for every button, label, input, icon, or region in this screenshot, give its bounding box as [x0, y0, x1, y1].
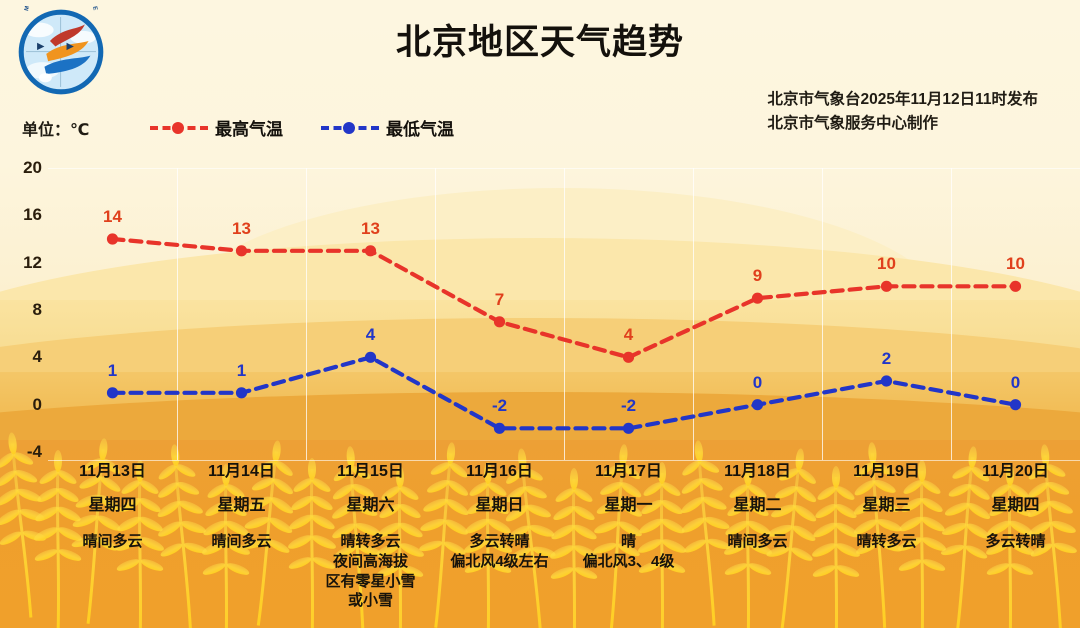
point-value-label: 14 — [103, 207, 122, 227]
day-column[interactable]: 11月14日星期五晴间多云 — [177, 458, 306, 628]
point-value-label: 9 — [753, 266, 762, 286]
day-condition: 晴 偏北风3、4级 — [564, 532, 693, 572]
point-value-label: 2 — [882, 349, 891, 369]
data-point-low[interactable] — [107, 387, 118, 398]
day-column[interactable]: 11月20日星期四多云转晴 — [951, 458, 1080, 628]
day-condition: 晴间多云 — [693, 532, 822, 552]
legend-item-high: 最高气温 — [150, 115, 283, 140]
day-weekday: 星期二 — [693, 496, 822, 516]
day-weekday: 星期一 — [564, 496, 693, 516]
day-date: 11月19日 — [822, 462, 951, 482]
day-condition: 晴转多云 — [822, 532, 951, 552]
data-point-low[interactable] — [1010, 399, 1021, 410]
data-point-low[interactable] — [623, 423, 634, 434]
day-columns: 11月13日星期四晴间多云11月14日星期五晴间多云11月15日星期六晴转多云 … — [48, 458, 1080, 628]
day-date: 11月17日 — [564, 462, 693, 482]
day-condition: 晴转多云 夜间高海拔 区有零星小雪 或小雪 — [306, 532, 435, 611]
point-value-label: 1 — [108, 361, 117, 381]
point-value-label: 10 — [1006, 254, 1025, 274]
point-value-label: -2 — [492, 396, 507, 416]
point-value-label: -2 — [621, 396, 636, 416]
day-weekday: 星期五 — [177, 496, 306, 516]
legend-item-low: 最低气温 — [321, 115, 454, 140]
day-date: 11月18日 — [693, 462, 822, 482]
day-weekday: 星期六 — [306, 496, 435, 516]
point-value-label: 4 — [366, 325, 375, 345]
day-column[interactable]: 11月17日星期一晴 偏北风3、4级 — [564, 458, 693, 628]
day-date: 11月16日 — [435, 462, 564, 482]
day-date: 11月15日 — [306, 462, 435, 482]
data-point-high[interactable] — [236, 245, 247, 256]
data-point-high[interactable] — [881, 281, 892, 292]
day-column[interactable]: 11月18日星期二晴间多云 — [693, 458, 822, 628]
publisher-info: 北京市气象台2025年11月12日11时发布 北京市气象服务中心制作 — [768, 88, 1039, 136]
legend: 最高气温 最低气温 — [150, 115, 454, 140]
data-point-high[interactable] — [494, 316, 505, 327]
data-point-low[interactable] — [752, 399, 763, 410]
legend-line-high-icon — [150, 120, 208, 136]
data-point-low[interactable] — [881, 375, 892, 386]
data-point-high[interactable] — [1010, 281, 1021, 292]
publisher-line-1: 北京市气象台2025年11月12日11时发布 — [768, 88, 1039, 112]
data-point-high[interactable] — [365, 245, 376, 256]
point-value-label: 10 — [877, 254, 896, 274]
point-value-label: 1 — [237, 361, 246, 381]
point-value-label: 7 — [495, 290, 504, 310]
data-point-high[interactable] — [752, 293, 763, 304]
day-weekday: 星期四 — [48, 496, 177, 516]
day-column[interactable]: 11月16日星期日多云转晴 偏北风4级左右 — [435, 458, 564, 628]
day-condition: 多云转晴 — [951, 532, 1080, 552]
publisher-line-2: 北京市气象服务中心制作 — [768, 112, 1039, 136]
point-value-label: 0 — [753, 373, 762, 393]
day-weekday: 星期四 — [951, 496, 1080, 516]
legend-line-low-icon — [321, 120, 379, 136]
day-column[interactable]: 11月13日星期四晴间多云 — [48, 458, 177, 628]
point-value-label: 13 — [361, 219, 380, 239]
data-point-low[interactable] — [365, 352, 376, 363]
data-point-low[interactable] — [236, 387, 247, 398]
legend-label-low: 最低气温 — [386, 115, 454, 140]
point-value-label: 13 — [232, 219, 251, 239]
page-title: 北京地区天气趋势 — [0, 14, 1080, 65]
day-date: 11月14日 — [177, 462, 306, 482]
day-date: 11月13日 — [48, 462, 177, 482]
day-weekday: 星期三 — [822, 496, 951, 516]
day-date: 11月20日 — [951, 462, 1080, 482]
unit-label: 单位：℃ — [22, 116, 89, 140]
series-line-low — [113, 357, 1016, 428]
point-value-label: 4 — [624, 325, 633, 345]
point-value-label: 0 — [1011, 373, 1020, 393]
day-column[interactable]: 11月19日星期三晴转多云 — [822, 458, 951, 628]
data-point-low[interactable] — [494, 423, 505, 434]
data-point-high[interactable] — [107, 233, 118, 244]
day-condition: 多云转晴 偏北风4级左右 — [435, 532, 564, 572]
day-condition: 晴间多云 — [177, 532, 306, 552]
legend-label-high: 最高气温 — [215, 115, 283, 140]
day-column[interactable]: 11月15日星期六晴转多云 夜间高海拔 区有零星小雪 或小雪 — [306, 458, 435, 628]
day-condition: 晴间多云 — [48, 532, 177, 552]
weather-trend-chart-page: METEOROLOGICAL SERVICE BEIJING 气象北京 北京地区… — [0, 0, 1080, 628]
data-point-high[interactable] — [623, 352, 634, 363]
day-weekday: 星期日 — [435, 496, 564, 516]
